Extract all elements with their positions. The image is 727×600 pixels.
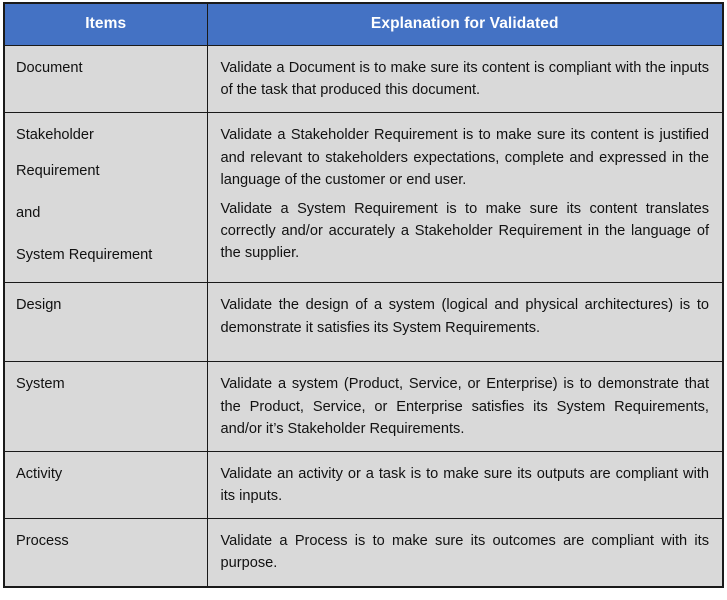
explanation-cell: Validate the design of a system (logical… [207, 283, 723, 362]
explanation-cell: Validate an activity or a task is to mak… [207, 451, 723, 518]
validation-table: Items Explanation for Validated Document… [3, 2, 724, 588]
explanation-paragraph: Validate the design of a system (logical… [221, 294, 710, 338]
explanation-paragraph: Validate a System Requirement is to make… [221, 198, 710, 265]
table-header-row: Items Explanation for Validated [4, 3, 723, 46]
item-cell: System [4, 362, 207, 452]
item-label-line: Stakeholder [16, 124, 199, 146]
item-cell: Activity [4, 451, 207, 518]
explanation-paragraph: Validate a Document is to make sure its … [221, 57, 710, 101]
table-row: Activity Validate an activity or a task … [4, 451, 723, 518]
table-row: System Validate a system (Product, Servi… [4, 362, 723, 452]
column-header-explanation: Explanation for Validated [207, 3, 723, 46]
explanation-paragraph: Validate a Process is to make sure its o… [221, 530, 710, 574]
explanation-paragraph: Validate a system (Product, Service, or … [221, 373, 710, 440]
item-cell: Design [4, 283, 207, 362]
item-label-line: Document [16, 57, 199, 79]
item-label-line: Process [16, 530, 199, 552]
item-label-line: Design [16, 294, 199, 316]
column-header-items: Items [4, 3, 207, 46]
explanation-paragraph: Validate a Stakeholder Requirement is to… [221, 124, 710, 191]
item-label-line: and [16, 202, 199, 224]
explanation-paragraph: Validate an activity or a task is to mak… [221, 463, 710, 507]
explanation-cell: Validate a Stakeholder Requirement is to… [207, 113, 723, 283]
explanation-cell: Validate a system (Product, Service, or … [207, 362, 723, 452]
document-page: Items Explanation for Validated Document… [0, 0, 727, 600]
table-row: Document Validate a Document is to make … [4, 46, 723, 113]
table-body: Document Validate a Document is to make … [4, 46, 723, 587]
item-cell: Process [4, 519, 207, 587]
item-cell: Stakeholder Requirement and System Requi… [4, 113, 207, 283]
table-row: Process Validate a Process is to make su… [4, 519, 723, 587]
explanation-cell: Validate a Process is to make sure its o… [207, 519, 723, 587]
validation-table-container: Items Explanation for Validated Document… [3, 2, 722, 588]
table-row: Design Validate the design of a system (… [4, 283, 723, 362]
item-cell: Document [4, 46, 207, 113]
table-row: Stakeholder Requirement and System Requi… [4, 113, 723, 283]
item-label-line: Requirement [16, 160, 199, 182]
explanation-cell: Validate a Document is to make sure its … [207, 46, 723, 113]
table-header: Items Explanation for Validated [4, 3, 723, 46]
item-label-line: System Requirement [16, 244, 199, 266]
item-label-line: Activity [16, 463, 199, 485]
item-label-line: System [16, 373, 199, 395]
